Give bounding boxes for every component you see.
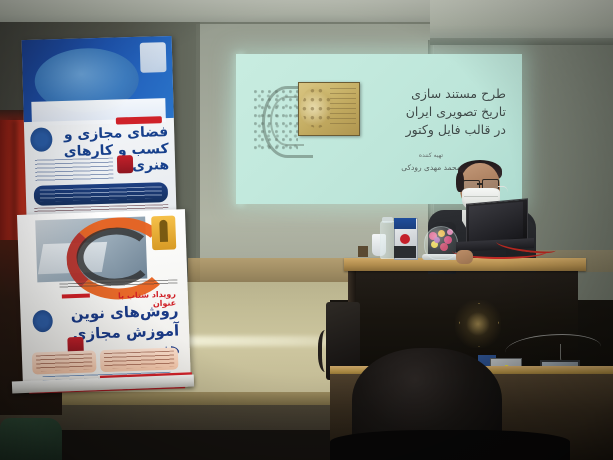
banner-top-logo-block xyxy=(140,42,167,73)
audience-shoulders xyxy=(330,430,570,460)
desk-small-object xyxy=(358,246,368,257)
presenter-hand xyxy=(456,250,473,264)
face-mask-pleat xyxy=(464,196,498,197)
podium-emblem-glyph xyxy=(466,312,490,336)
chair xyxy=(0,418,62,460)
banner-bottom-logo-mark xyxy=(159,220,168,242)
slide-byline-label: تهیه کننده xyxy=(356,152,506,159)
slide-title-line-1: طرح مستند سازی xyxy=(356,86,506,101)
product-box-base xyxy=(394,246,416,258)
banner-top-emblem-icon xyxy=(117,155,133,173)
banner-top-body-text xyxy=(35,158,114,182)
slide-title-line-3: در قالب فایل وکتور xyxy=(356,122,506,137)
banner-bottom-panel-right-lines xyxy=(104,351,175,369)
product-box-header xyxy=(394,218,416,229)
roll-up-banner-top: فضای مجازی و کسب و کارهای هنری xyxy=(22,36,177,215)
banner-top-red-rule xyxy=(116,116,162,124)
slide-artwork-scrollwork xyxy=(302,88,332,128)
banner-bottom-seal-icon xyxy=(32,310,53,333)
face-mask-ear-loop xyxy=(498,186,508,199)
lecture-hall-photo: طرح مستند سازی تاریخ تصویری ایران در قال… xyxy=(0,0,613,460)
roll-up-banner-bottom: رویداد شتاب با عنوان روش‌های نوین آموزش … xyxy=(17,209,191,390)
banner-bottom-headline-1: روش‌های نوین xyxy=(54,301,179,323)
banner-bottom-red-rule xyxy=(62,293,90,298)
slide-artwork-script xyxy=(330,88,356,128)
eyeglasses-bridge xyxy=(477,183,483,185)
ceiling-soffit xyxy=(430,0,613,42)
slide-title-line-2: تاریخ تصویری ایران xyxy=(356,104,506,119)
product-box-red-dot xyxy=(400,234,410,244)
banner-top-headline-1: فضای مجازی و xyxy=(50,124,168,143)
banner-bottom-panel-left-lines xyxy=(36,353,93,371)
curtain-fold xyxy=(12,120,17,250)
